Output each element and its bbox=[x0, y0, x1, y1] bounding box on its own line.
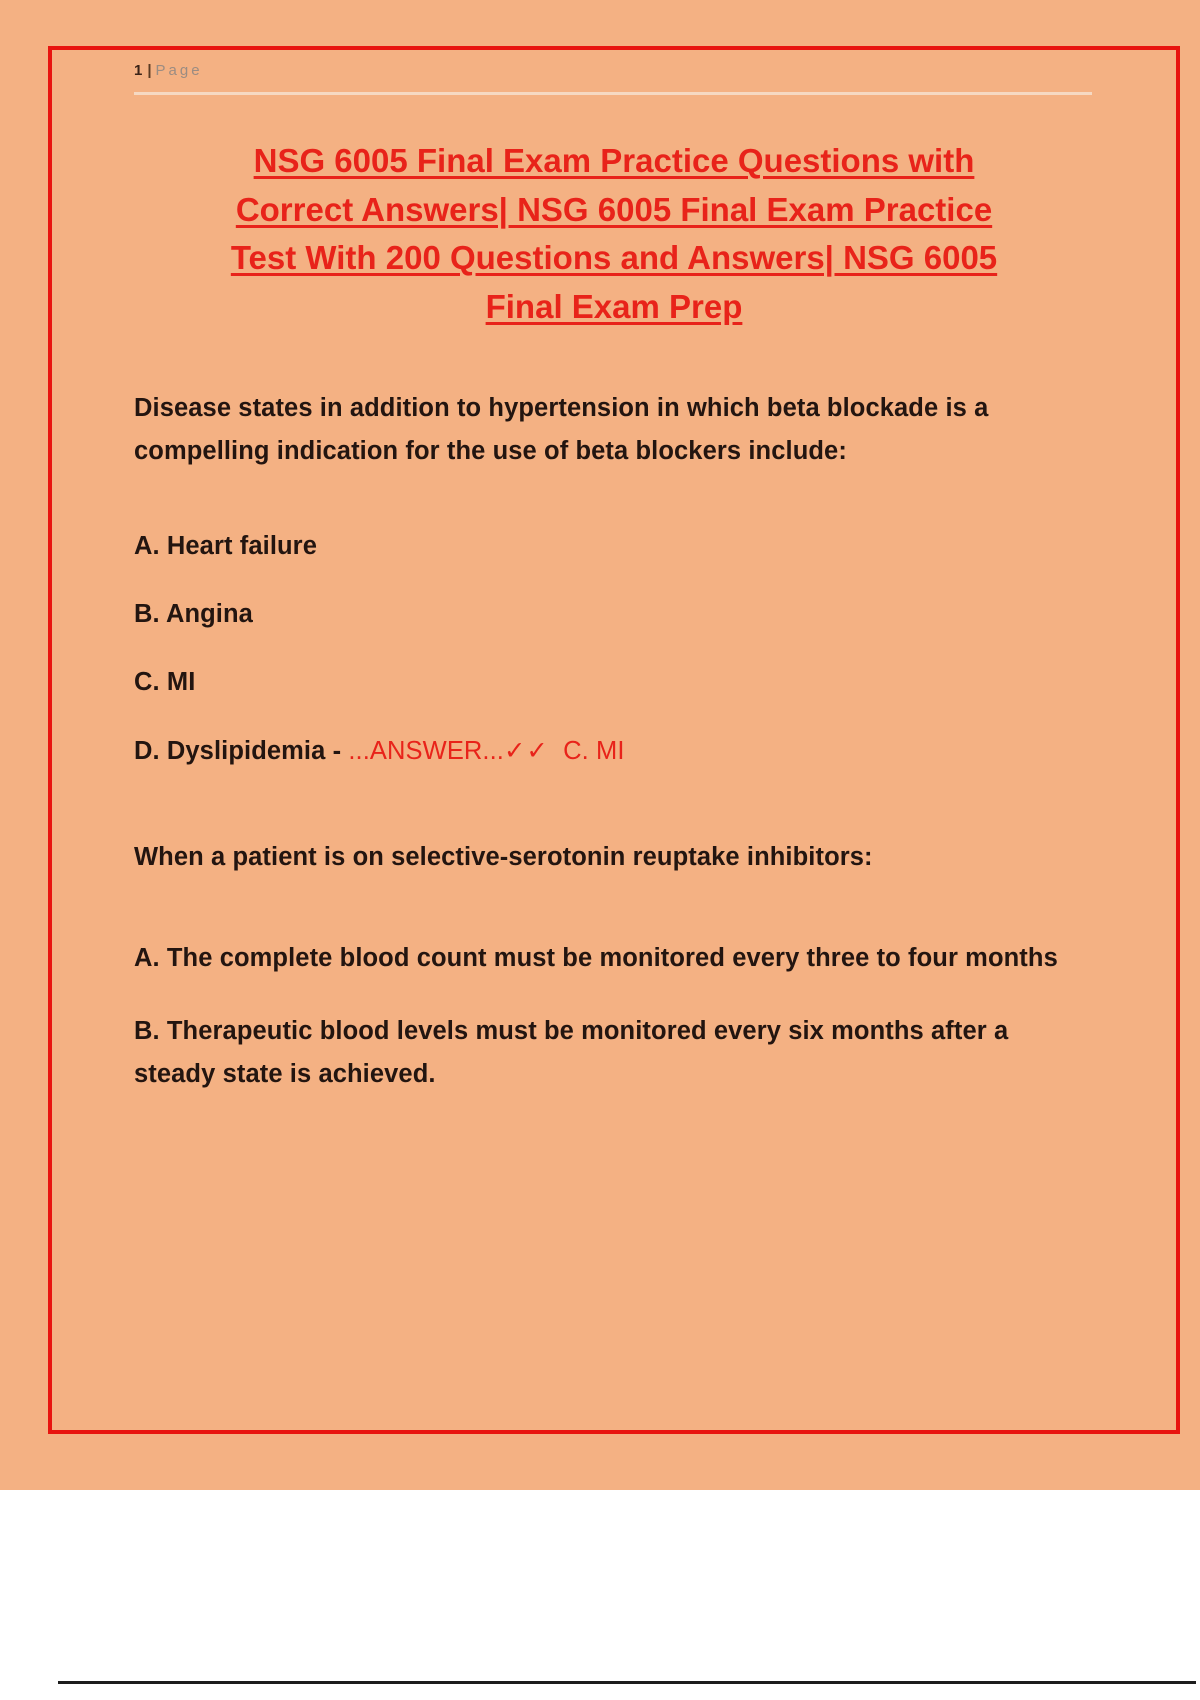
question-stem: When a patient is on selective-serotonin… bbox=[134, 836, 1094, 879]
option-d: D. Dyslipidemia - ...ANSWER...✓✓ C. MI bbox=[134, 730, 1094, 773]
title-line-1: NSG 6005 Final Exam Practice Questions w… bbox=[160, 137, 1068, 186]
option-d-text: D. Dyslipidemia - bbox=[134, 737, 348, 765]
document-content: 1|Page NSG 6005 Final Exam Practice Ques… bbox=[134, 62, 1094, 1126]
header-separator: | bbox=[143, 62, 155, 79]
footer-divider bbox=[58, 1681, 1196, 1684]
option-list: A. The complete blood count must be moni… bbox=[134, 937, 1094, 1095]
question-block-2: When a patient is on selective-serotonin… bbox=[134, 836, 1094, 1095]
document-page: 1|Page NSG 6005 Final Exam Practice Ques… bbox=[0, 0, 1200, 1490]
title-line-3: Test With 200 Questions and Answers| NSG… bbox=[160, 234, 1068, 283]
question-block-1: Disease states in addition to hypertensi… bbox=[134, 387, 1094, 772]
option-list: A. Heart failure B. Angina C. MI D. Dysl… bbox=[134, 525, 1094, 773]
answer-value: C. MI bbox=[563, 737, 624, 765]
header-page-number: 1 bbox=[134, 62, 143, 79]
answer-label: ...ANSWER... bbox=[348, 737, 504, 765]
check-mark-icon: ✓✓ bbox=[504, 737, 549, 765]
header-page-label: Page bbox=[156, 62, 203, 79]
question-stem: Disease states in addition to hypertensi… bbox=[134, 387, 1094, 473]
option-a: A. The complete blood count must be moni… bbox=[134, 937, 1094, 980]
running-header: 1|Page bbox=[134, 62, 1094, 90]
option-a: A. Heart failure bbox=[134, 525, 1094, 568]
option-b: B. Angina bbox=[134, 593, 1094, 636]
title-line-4: Final Exam Prep bbox=[160, 283, 1068, 332]
option-b: B. Therapeutic blood levels must be moni… bbox=[134, 1010, 1094, 1096]
title-line-2: Correct Answers| NSG 6005 Final Exam Pra… bbox=[160, 186, 1068, 235]
answer-annotation: ...ANSWER...✓✓ C. MI bbox=[348, 737, 624, 765]
page-title: NSG 6005 Final Exam Practice Questions w… bbox=[134, 137, 1094, 331]
header-divider bbox=[134, 92, 1092, 95]
option-c: C. MI bbox=[134, 661, 1094, 704]
